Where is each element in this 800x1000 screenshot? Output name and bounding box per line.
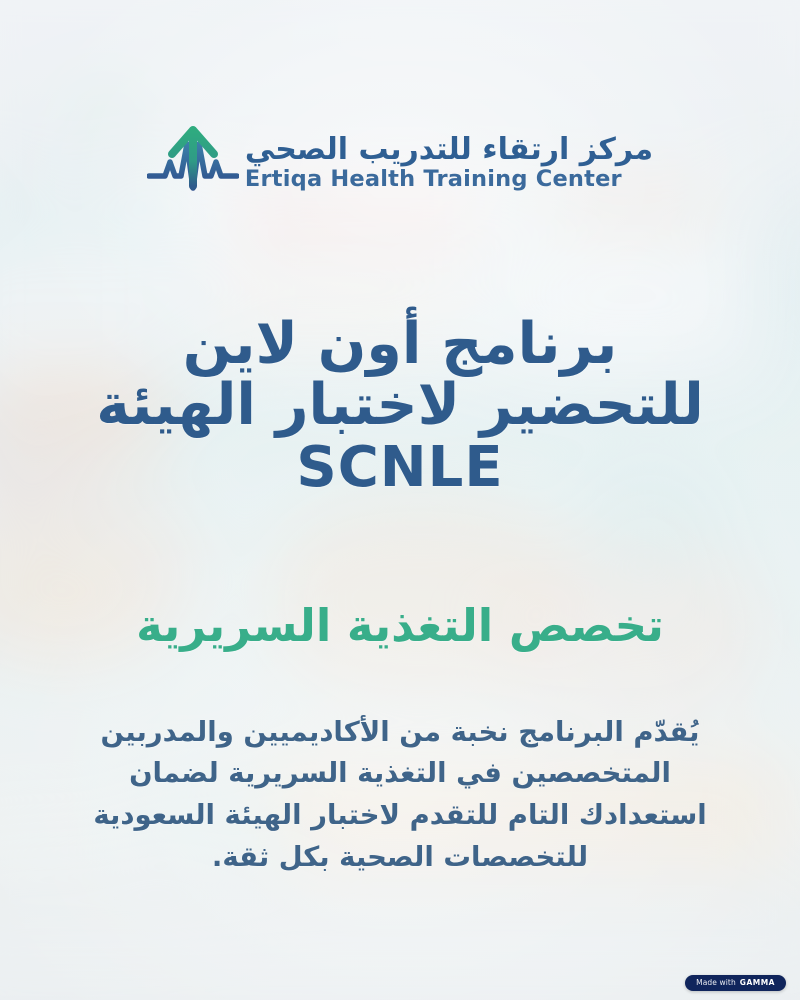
brand-wordmark: مركز ارتقاء للتدريب الصحي Ertiqa Health …	[245, 134, 653, 192]
description-paragraph: يُقدّم البرنامج نخبة من الأكاديميين والم…	[72, 712, 728, 879]
made-with-brand: GAMMA	[740, 979, 775, 987]
made-with-prefix: Made with	[696, 979, 736, 987]
poster-content: مركز ارتقاء للتدريب الصحي Ertiqa Health …	[0, 0, 800, 1000]
upward-arrow-ecg-pulse-icon	[147, 124, 239, 200]
brand-name-english: Ertiqa Health Training Center	[245, 168, 622, 192]
brand-name-arabic: مركز ارتقاء للتدريب الصحي	[245, 134, 653, 166]
brand-logo: مركز ارتقاء للتدريب الصحي Ertiqa Health …	[0, 124, 800, 202]
headline-exam-code: SCNLE	[40, 438, 760, 498]
page-title: برنامج أون لاين للتحضير لاختبار الهيئة S…	[40, 314, 760, 498]
specialty-subtitle: تخصص التغذية السريرية	[40, 600, 760, 652]
headline-line-1: برنامج أون لاين	[40, 314, 760, 375]
poster-canvas: مركز ارتقاء للتدريب الصحي Ertiqa Health …	[0, 0, 800, 1000]
headline-line-2: للتحضير لاختبار الهيئة	[40, 375, 760, 436]
made-with-badge[interactable]: Made with GAMMA	[685, 975, 786, 992]
